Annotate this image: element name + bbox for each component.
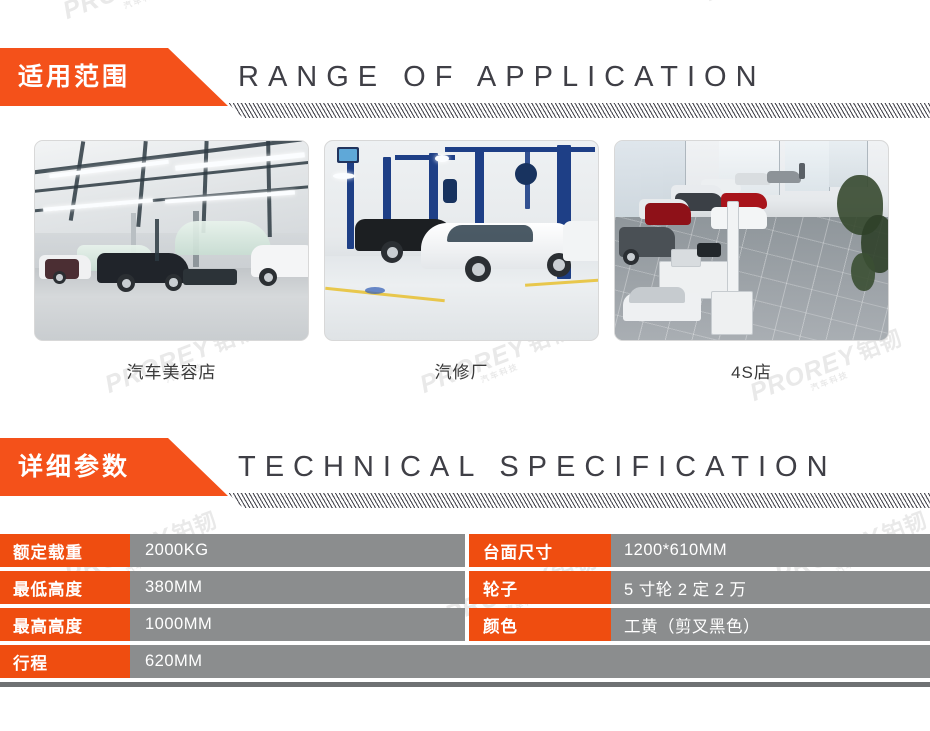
watermark-en: PROREY <box>59 0 173 25</box>
section-english-title-wrap: RANGE OF APPLICATION <box>228 48 930 106</box>
section-header-range-of-application: 适用范围 RANGE OF APPLICATION <box>0 48 930 120</box>
spec-label: 行程 <box>0 645 130 678</box>
specification-table: 额定载重 2000KG 台面尺寸 1200*610MM 最低高度 380MM 轮… <box>0 534 930 687</box>
gallery-captions: 汽车美容店 汽修厂 4S店 <box>0 358 930 392</box>
spec-value: 工黄（剪叉黑色） <box>611 608 930 641</box>
spec-label: 台面尺寸 <box>469 534 611 567</box>
spec-value: 2000KG <box>130 534 465 567</box>
spec-pair-right: 颜色 工黄（剪叉黑色） <box>465 608 930 641</box>
watermark: PROREY铂韧 汽车科技 <box>700 0 864 14</box>
hatch-divider <box>155 103 930 118</box>
gallery-caption: 4S店 <box>614 358 889 383</box>
section-badge-label: 适用范围 <box>18 65 130 90</box>
spec-value: 5 寸轮 2 定 2 万 <box>611 571 930 604</box>
watermark-sub: 汽车科技 <box>122 0 222 12</box>
gallery-image-auto-detailing-shop[interactable] <box>34 140 309 341</box>
section-english-title-wrap: TECHNICAL SPECIFICATION <box>228 438 930 496</box>
spec-label: 轮子 <box>469 571 611 604</box>
spec-label: 最高高度 <box>0 608 130 641</box>
spec-value: 1000MM <box>130 608 465 641</box>
section-badge-spec: 详细参数 <box>0 438 228 496</box>
section-english-title: RANGE OF APPLICATION <box>238 61 766 94</box>
spec-pair-right: 轮子 5 寸轮 2 定 2 万 <box>465 571 930 604</box>
watermark: PROREY铂韧 汽车科技 <box>58 0 222 32</box>
spec-value: 1200*610MM <box>611 534 930 567</box>
spec-pair-left: 额定载重 2000KG <box>0 534 465 567</box>
section-badge-range: 适用范围 <box>0 48 228 106</box>
spec-value: 380MM <box>130 571 465 604</box>
product-detail-page: PROREY铂韧 汽车科技 PROREY铂韧 汽车科技 PROREY铂韧 汽车科… <box>0 0 930 731</box>
watermark-en: PROREY <box>701 0 815 7</box>
gallery-image-repair-shop[interactable] <box>324 140 599 341</box>
spec-label: 最低高度 <box>0 571 130 604</box>
spec-pair-left: 最低高度 380MM <box>0 571 465 604</box>
spec-pair-right-empty <box>465 645 930 678</box>
spec-value: 620MM <box>130 645 465 678</box>
gallery-caption: 汽车美容店 <box>34 358 309 383</box>
spec-pair-right: 台面尺寸 1200*610MM <box>465 534 930 567</box>
spec-pair-left: 行程 620MM <box>0 645 465 678</box>
gallery-image-dealership-showroom[interactable] <box>614 140 889 341</box>
section-header-technical-specification: 详细参数 TECHNICAL SPECIFICATION <box>0 438 930 510</box>
section-english-title: TECHNICAL SPECIFICATION <box>238 451 837 484</box>
table-row: 最高高度 1000MM 颜色 工黄（剪叉黑色） <box>0 608 930 641</box>
spec-value-empty <box>465 645 930 678</box>
application-gallery <box>0 140 930 345</box>
section-badge-label: 详细参数 <box>18 455 130 480</box>
table-bottom-shadow <box>0 682 930 687</box>
table-row: 额定载重 2000KG 台面尺寸 1200*610MM <box>0 534 930 567</box>
spec-label: 额定载重 <box>0 534 130 567</box>
spec-pair-left: 最高高度 1000MM <box>0 608 465 641</box>
gallery-caption: 汽修厂 <box>324 358 599 383</box>
table-row: 最低高度 380MM 轮子 5 寸轮 2 定 2 万 <box>0 571 930 604</box>
hatch-divider <box>155 493 930 508</box>
spec-label: 颜色 <box>469 608 611 641</box>
table-row: 行程 620MM <box>0 645 930 678</box>
